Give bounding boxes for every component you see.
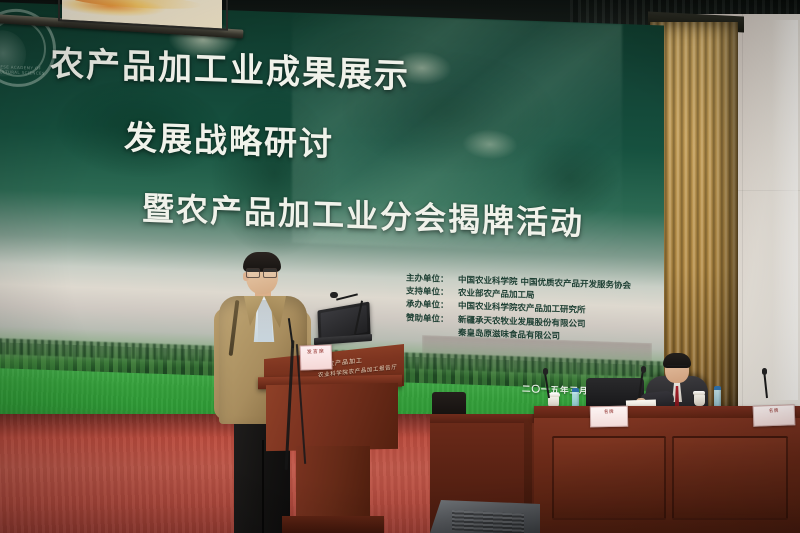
wall-highlight (772, 20, 798, 400)
water-bottle (714, 388, 721, 408)
table-leg (524, 420, 532, 516)
table-panel (552, 436, 666, 520)
microphone-icon (330, 292, 338, 298)
microphone-icon (641, 366, 646, 373)
podium-name-card: 发言席 (300, 344, 333, 370)
microphone-icon (543, 368, 548, 375)
tea-cup-lid (693, 391, 705, 395)
lens-right (263, 268, 277, 278)
tea-cup (694, 394, 705, 406)
banner-title-line-1b: 发展战略研讨 (124, 111, 334, 166)
table-panel (672, 436, 788, 520)
emblem-caption: CHINESE ACADEMY OF AGRICULTURAL SCIENCES (0, 64, 48, 76)
banner-organizations: 主办单位：中国农业科学院 中国优质农产品开发服务协会 支持单位：农业部农产品加工… (406, 272, 631, 346)
conference-photo: CHINESE ACADEMY OF AGRICULTURAL SCIENCES… (0, 0, 800, 533)
speaker-grille-icon (452, 510, 524, 533)
microphone-icon (762, 368, 767, 375)
name-card: 名牌 (753, 404, 796, 426)
eyeglasses-icon (667, 365, 687, 370)
speaker-leg-divide (262, 440, 264, 533)
bottle-cap (572, 388, 579, 392)
eyeglasses-icon (246, 268, 276, 276)
wall-seam (742, 14, 743, 414)
bottle-cap (714, 386, 721, 390)
org-value: 农业部农产品加工局 (458, 288, 535, 301)
lens-left (246, 268, 260, 278)
org-label: 赞助单位： (406, 312, 458, 327)
name-card: 名牌 (590, 406, 628, 428)
podium-base (282, 516, 384, 533)
